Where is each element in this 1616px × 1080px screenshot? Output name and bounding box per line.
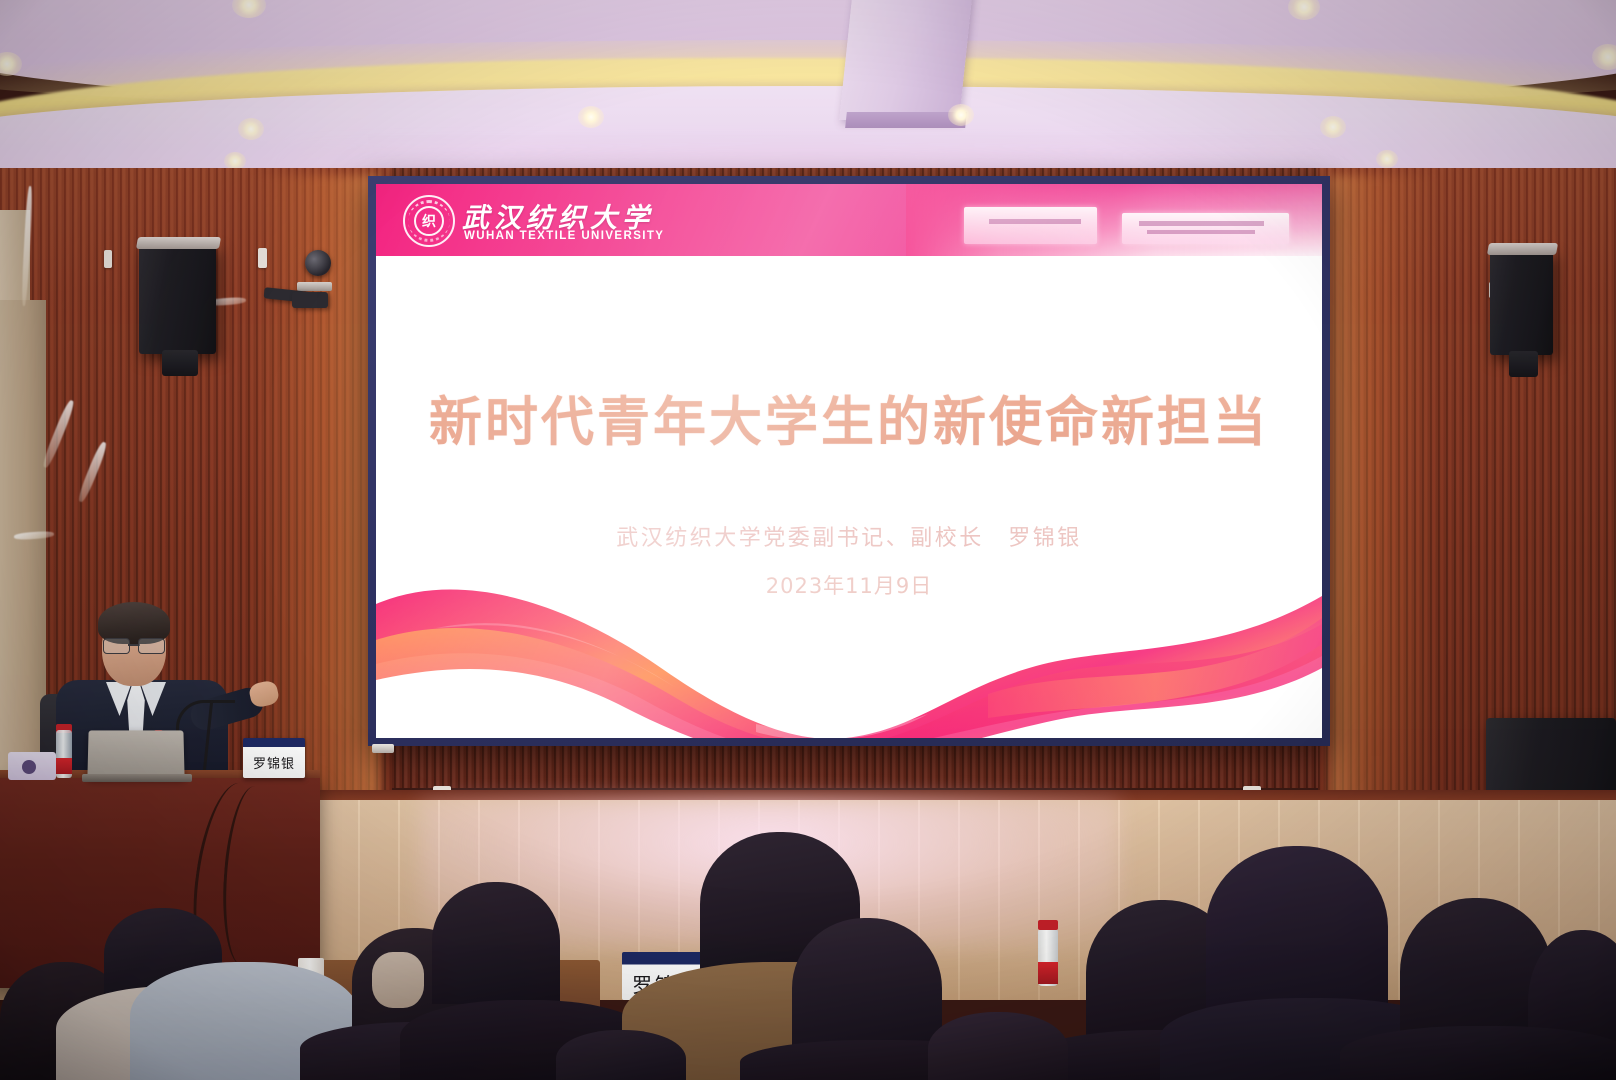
slide-title: 新时代青年大学生的新使命新担当 bbox=[376, 380, 1322, 456]
building-window bbox=[1147, 230, 1255, 234]
bottle-label bbox=[56, 758, 72, 774]
speaker-mount bbox=[1509, 351, 1538, 377]
audience-head bbox=[432, 882, 560, 1004]
audience-head bbox=[1206, 846, 1388, 1014]
water-bottle bbox=[1038, 928, 1058, 986]
wall-socket bbox=[104, 250, 112, 268]
campus-photo-banner bbox=[906, 184, 1322, 256]
speaker-mount bbox=[162, 350, 197, 376]
bottle-label bbox=[1038, 962, 1058, 984]
lecture-hall-scene: 织 武汉纺织大学 WUHAN TEXTILE UNIVERSITY 新时代青年大… bbox=[0, 0, 1616, 1080]
ceiling-beam bbox=[839, 0, 973, 120]
laptop-base bbox=[82, 774, 192, 782]
seal-ring bbox=[408, 200, 450, 242]
building-window bbox=[989, 219, 1081, 224]
slide-header-band: 织 武汉纺织大学 WUHAN TEXTILE UNIVERSITY bbox=[376, 184, 1322, 256]
audience-head bbox=[556, 1030, 686, 1080]
tissue-box-graphic bbox=[22, 760, 36, 774]
speaker-cabinet bbox=[139, 244, 216, 354]
audience-head bbox=[928, 1012, 1068, 1080]
speaker-cabinet bbox=[1490, 250, 1553, 355]
downlight-icon bbox=[238, 118, 264, 140]
university-seal-icon: 织 bbox=[403, 195, 455, 247]
silk-ribbon-graphic bbox=[376, 548, 1322, 738]
downlight-icon bbox=[578, 106, 604, 128]
camera-arm bbox=[292, 292, 328, 308]
ceiling bbox=[0, 0, 1616, 196]
laptop-icon bbox=[87, 730, 184, 778]
presenter-nameplate-label: 罗锦银 bbox=[253, 753, 295, 778]
left-wall-speaker bbox=[139, 244, 216, 354]
downlight-icon bbox=[1320, 116, 1346, 138]
eyeglasses-icon bbox=[102, 638, 166, 653]
downlight-icon bbox=[1592, 44, 1616, 70]
presenter-nameplate: 罗锦银 bbox=[243, 738, 305, 778]
projection-screen-frame: 织 武汉纺织大学 WUHAN TEXTILE UNIVERSITY 新时代青年大… bbox=[368, 176, 1330, 746]
campus-building bbox=[964, 207, 1097, 244]
projection-screen: 织 武汉纺织大学 WUHAN TEXTILE UNIVERSITY 新时代青年大… bbox=[376, 184, 1322, 738]
audience-hair-clip-icon bbox=[372, 952, 424, 1008]
university-name-en: WUHAN TEXTILE UNIVERSITY bbox=[464, 230, 664, 242]
screen-pull-tab bbox=[372, 744, 394, 753]
right-wall-speaker bbox=[1490, 250, 1553, 355]
campus-building bbox=[1122, 213, 1288, 245]
downlight-icon bbox=[948, 104, 974, 126]
camera-icon bbox=[305, 250, 331, 276]
bottle-cap bbox=[1038, 920, 1058, 930]
audience-body bbox=[1340, 1026, 1616, 1080]
building-window bbox=[1139, 221, 1264, 225]
downlight-icon bbox=[1376, 150, 1398, 168]
camera-bracket bbox=[297, 282, 332, 291]
speaker-top bbox=[1487, 243, 1558, 255]
speaker-top bbox=[136, 237, 221, 249]
wall-socket bbox=[258, 248, 267, 268]
wall-accent-light-right bbox=[1330, 175, 1440, 815]
